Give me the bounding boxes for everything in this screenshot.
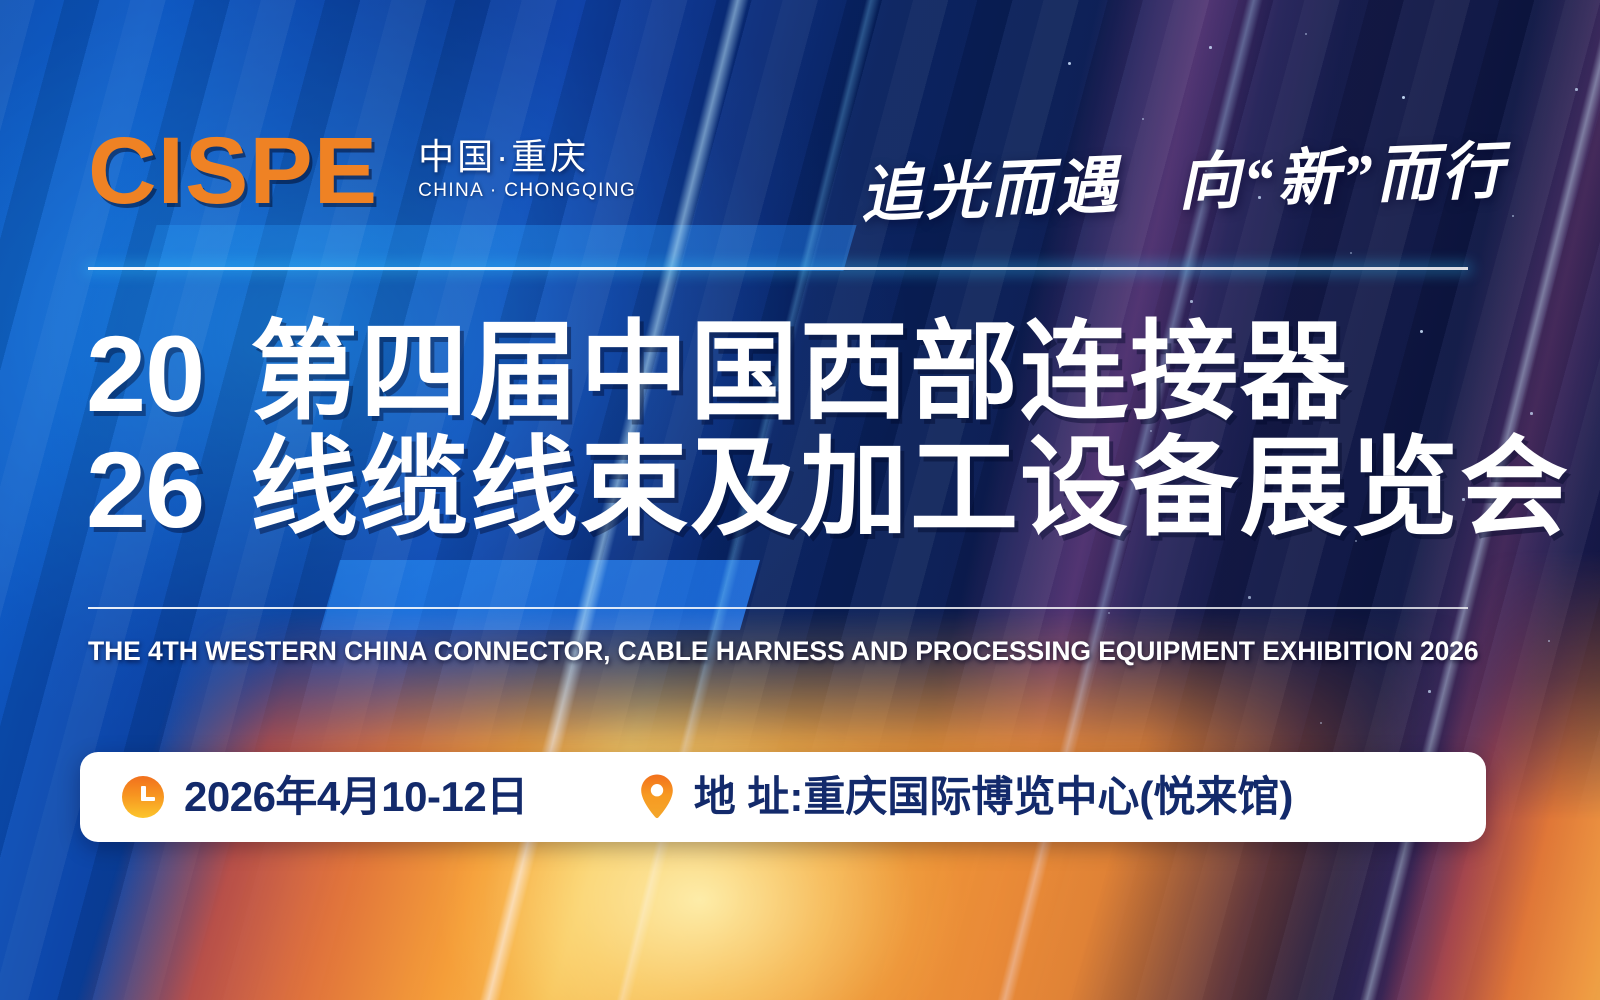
- year-digits-top: 20: [86, 322, 250, 426]
- title-line-2: 线缆线束及加工设备展览会: [250, 434, 1570, 542]
- slogan-phrase-2: 向“新”而行: [1176, 120, 1507, 223]
- brand-header: CISPE 中国·重庆 CHINA · CHONGQING: [88, 128, 636, 215]
- title-row-first: 20 第四届中国西部连接器: [86, 318, 1570, 426]
- year-digits-bottom: 26: [86, 438, 250, 542]
- event-date-item: 2026年4月10-12日: [122, 776, 528, 818]
- clock-icon: [122, 776, 164, 818]
- cispe-logo: CISPE: [88, 128, 378, 215]
- calligraphy-slogan: 追光而遇 向“新”而行: [859, 120, 1508, 235]
- english-subtitle: THE 4TH WESTERN CHINA CONNECTOR, CABLE H…: [88, 636, 1479, 667]
- slogan-phrase-1: 追光而遇: [859, 134, 1122, 234]
- location-english: CHINA · CHONGQING: [418, 180, 636, 202]
- title-row-second: 26 线缆线束及加工设备展览会: [86, 434, 1570, 542]
- title-line-1: 第四届中国西部连接器: [250, 318, 1350, 426]
- poster-content: CISPE 中国·重庆 CHINA · CHONGQING 追光而遇 向“新”而…: [0, 0, 1600, 1000]
- divider-bottom: [88, 607, 1468, 609]
- brand-location-block: 中国·重庆 CHINA · CHONGQING: [418, 138, 636, 206]
- event-location-text: 地 址:重庆国际博览中心(悦来馆): [694, 776, 1294, 818]
- event-location-item: 地 址:重庆国际博览中心(悦来馆): [640, 774, 1294, 820]
- event-info-bar: 2026年4月10-12日: [80, 752, 1486, 842]
- map-pin-icon: [640, 774, 674, 820]
- location-chinese: 中国·重庆: [418, 138, 636, 176]
- main-title-block: 20 第四届中国西部连接器 26 线缆线束及加工设备展览会: [86, 318, 1570, 542]
- event-date-text: 2026年4月10-12日: [184, 776, 528, 818]
- divider-top: [88, 267, 1468, 270]
- event-poster: CISPE 中国·重庆 CHINA · CHONGQING 追光而遇 向“新”而…: [0, 0, 1600, 1000]
